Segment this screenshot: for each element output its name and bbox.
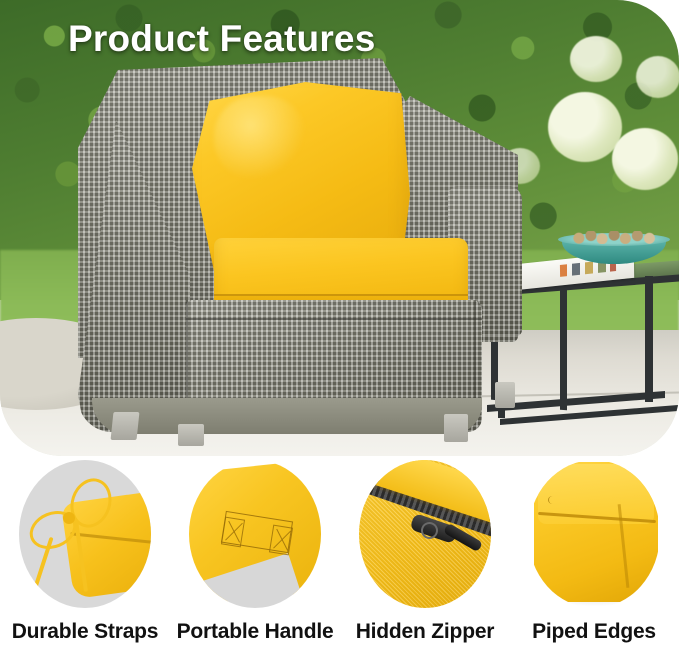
hydrangea-blossom — [636, 56, 679, 98]
decorative-balls — [572, 231, 658, 244]
chair-foot — [111, 412, 140, 440]
seam-detail — [548, 496, 557, 504]
bow-knot — [63, 512, 75, 524]
feature-thumbnail-row: Durable Straps Portable Handle Hidden Zi… — [0, 456, 679, 661]
page-title: Product Features — [68, 18, 376, 60]
back-cushion-highlight — [214, 96, 306, 180]
sewn-carry-handle-icon — [189, 460, 321, 608]
chair-foot — [495, 382, 515, 408]
zipper-icon — [359, 460, 491, 608]
hydrangea-blossom — [548, 92, 622, 162]
feature-item-durable-straps: Durable Straps — [0, 456, 170, 661]
chair-base-skirt — [92, 398, 482, 434]
hydrangea-blossom — [570, 36, 622, 82]
hydrangea-blossom — [612, 128, 678, 190]
hero-product-image: Product Features — [0, 0, 679, 456]
feature-label: Hidden Zipper — [340, 620, 510, 644]
piped-seam-corner-icon — [528, 460, 660, 608]
chair-foot — [178, 424, 204, 446]
feature-item-piped-edges: Piped Edges — [509, 456, 679, 661]
feature-item-hidden-zipper: Hidden Zipper — [340, 456, 510, 661]
cushion-ties-bow-icon — [19, 460, 151, 608]
feature-label: Piped Edges — [509, 620, 679, 644]
chair-foot — [444, 414, 468, 442]
feature-label: Durable Straps — [0, 620, 170, 644]
side-table-frame — [560, 282, 567, 410]
feature-item-portable-handle: Portable Handle — [170, 456, 340, 661]
feature-label: Portable Handle — [170, 620, 340, 644]
side-table-frame — [645, 276, 653, 402]
